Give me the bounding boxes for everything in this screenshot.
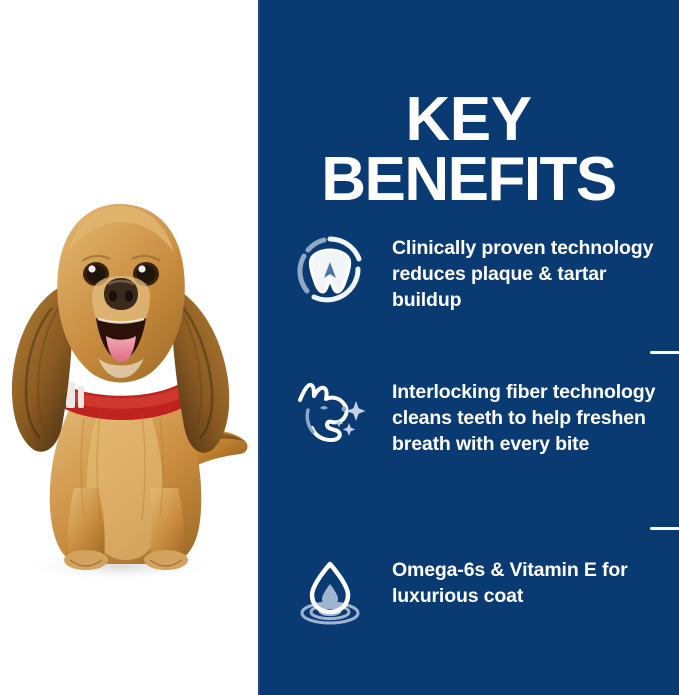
panel-left-edge xyxy=(258,0,260,695)
benefits-panel: KEY BENEFITS Clinically proven technolog… xyxy=(258,0,679,695)
benefit-divider-1 xyxy=(650,351,679,354)
key-benefits-banner: Long-haired dachshund dog standing, wear… xyxy=(0,0,679,695)
dog-photo xyxy=(0,168,258,588)
page-title-line-2: BENEFITS xyxy=(258,150,679,211)
benefit-divider-2 xyxy=(650,527,679,530)
benefit-item-2: Interlocking fiber technology cleans tee… xyxy=(294,376,666,457)
dog-head-sparkle-icon xyxy=(294,378,366,450)
benefit-text-1: Clinically proven technology reduces pla… xyxy=(366,232,666,313)
sparkle-medium xyxy=(343,423,355,436)
dog-leg-left xyxy=(68,488,105,560)
page-title: KEY BENEFITS xyxy=(258,90,679,212)
benefit-item-3: Omega-6s & Vitamin E for luxurious coat xyxy=(294,554,666,628)
page-title-line-1: KEY xyxy=(258,90,679,151)
dog-photo-panel: Long-haired dachshund dog standing, wear… xyxy=(0,0,258,695)
water-droplet-icon xyxy=(294,556,366,628)
benefit-text-2: Interlocking fiber technology cleans tee… xyxy=(366,376,666,457)
benefit-text-3: Omega-6s & Vitamin E for luxurious coat xyxy=(366,554,666,609)
sparkle-large xyxy=(347,401,366,421)
benefit-item-1: Clinically proven technology reduces pla… xyxy=(294,232,666,313)
dog-leg-right xyxy=(150,488,184,560)
tooth-shield-icon xyxy=(294,234,366,306)
